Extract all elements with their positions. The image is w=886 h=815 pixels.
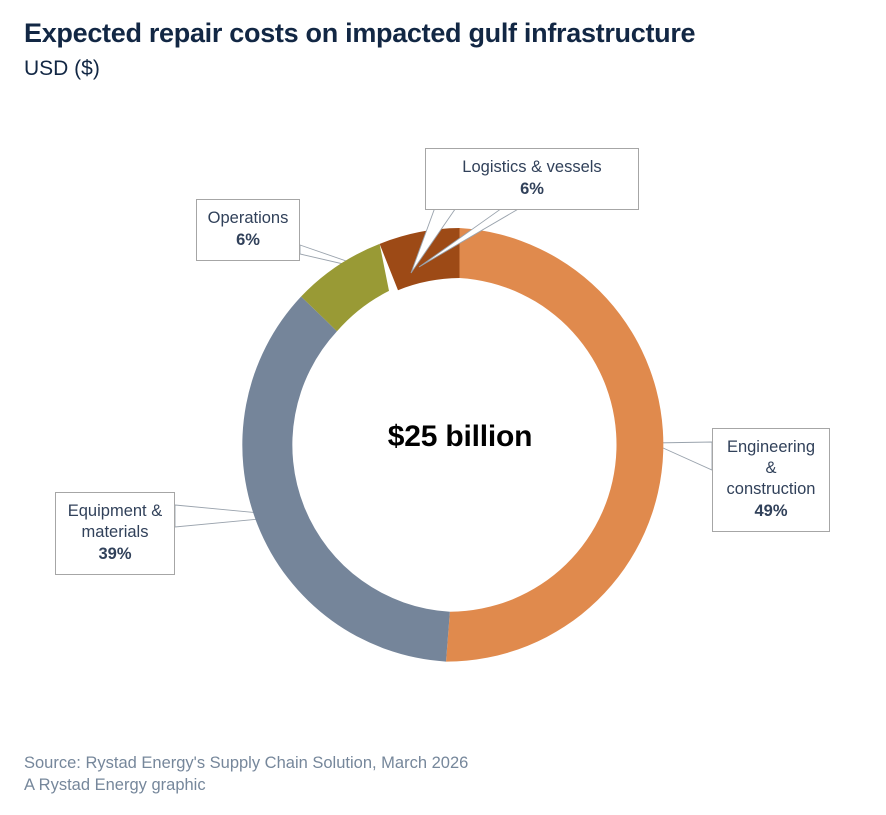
data-label-engineering-construction-name-line2: construction — [723, 479, 819, 500]
data-label-logistics-vessels[interactable]: Logistics & vessels 6% — [425, 148, 639, 210]
data-label-engineering-construction-name-line1: Engineering & — [723, 437, 819, 479]
data-label-equipment-materials-value: 39% — [66, 544, 164, 565]
data-label-equipment-materials[interactable]: Equipment & materials 39% — [55, 492, 175, 575]
data-label-equipment-materials-name-line2: materials — [66, 522, 164, 543]
slice-equipment-materials[interactable] — [242, 297, 450, 662]
data-label-engineering-construction-value: 49% — [723, 501, 819, 522]
donut-center-value: $25 billion — [300, 420, 620, 454]
data-label-engineering-construction[interactable]: Engineering & construction 49% — [712, 428, 830, 532]
data-label-equipment-materials-name-line1: Equipment & — [66, 501, 164, 522]
data-label-operations[interactable]: Operations 6% — [196, 199, 300, 261]
source-text: Source: Rystad Energy's Supply Chain Sol… — [24, 752, 724, 774]
data-label-operations-name: Operations — [207, 208, 289, 229]
chart-page: Expected repair costs on impacted gulf i… — [0, 0, 886, 815]
chart-footer: Source: Rystad Energy's Supply Chain Sol… — [24, 752, 724, 797]
data-label-logistics-vessels-name: Logistics & vessels — [436, 157, 628, 178]
credit-text: A Rystad Energy graphic — [24, 774, 724, 796]
donut-chart: $25 billion Logistics & vessels 6% Opera… — [0, 0, 886, 815]
data-label-logistics-vessels-value: 6% — [436, 179, 628, 200]
data-label-operations-value: 6% — [207, 230, 289, 251]
donut-chart-svg — [0, 0, 886, 815]
